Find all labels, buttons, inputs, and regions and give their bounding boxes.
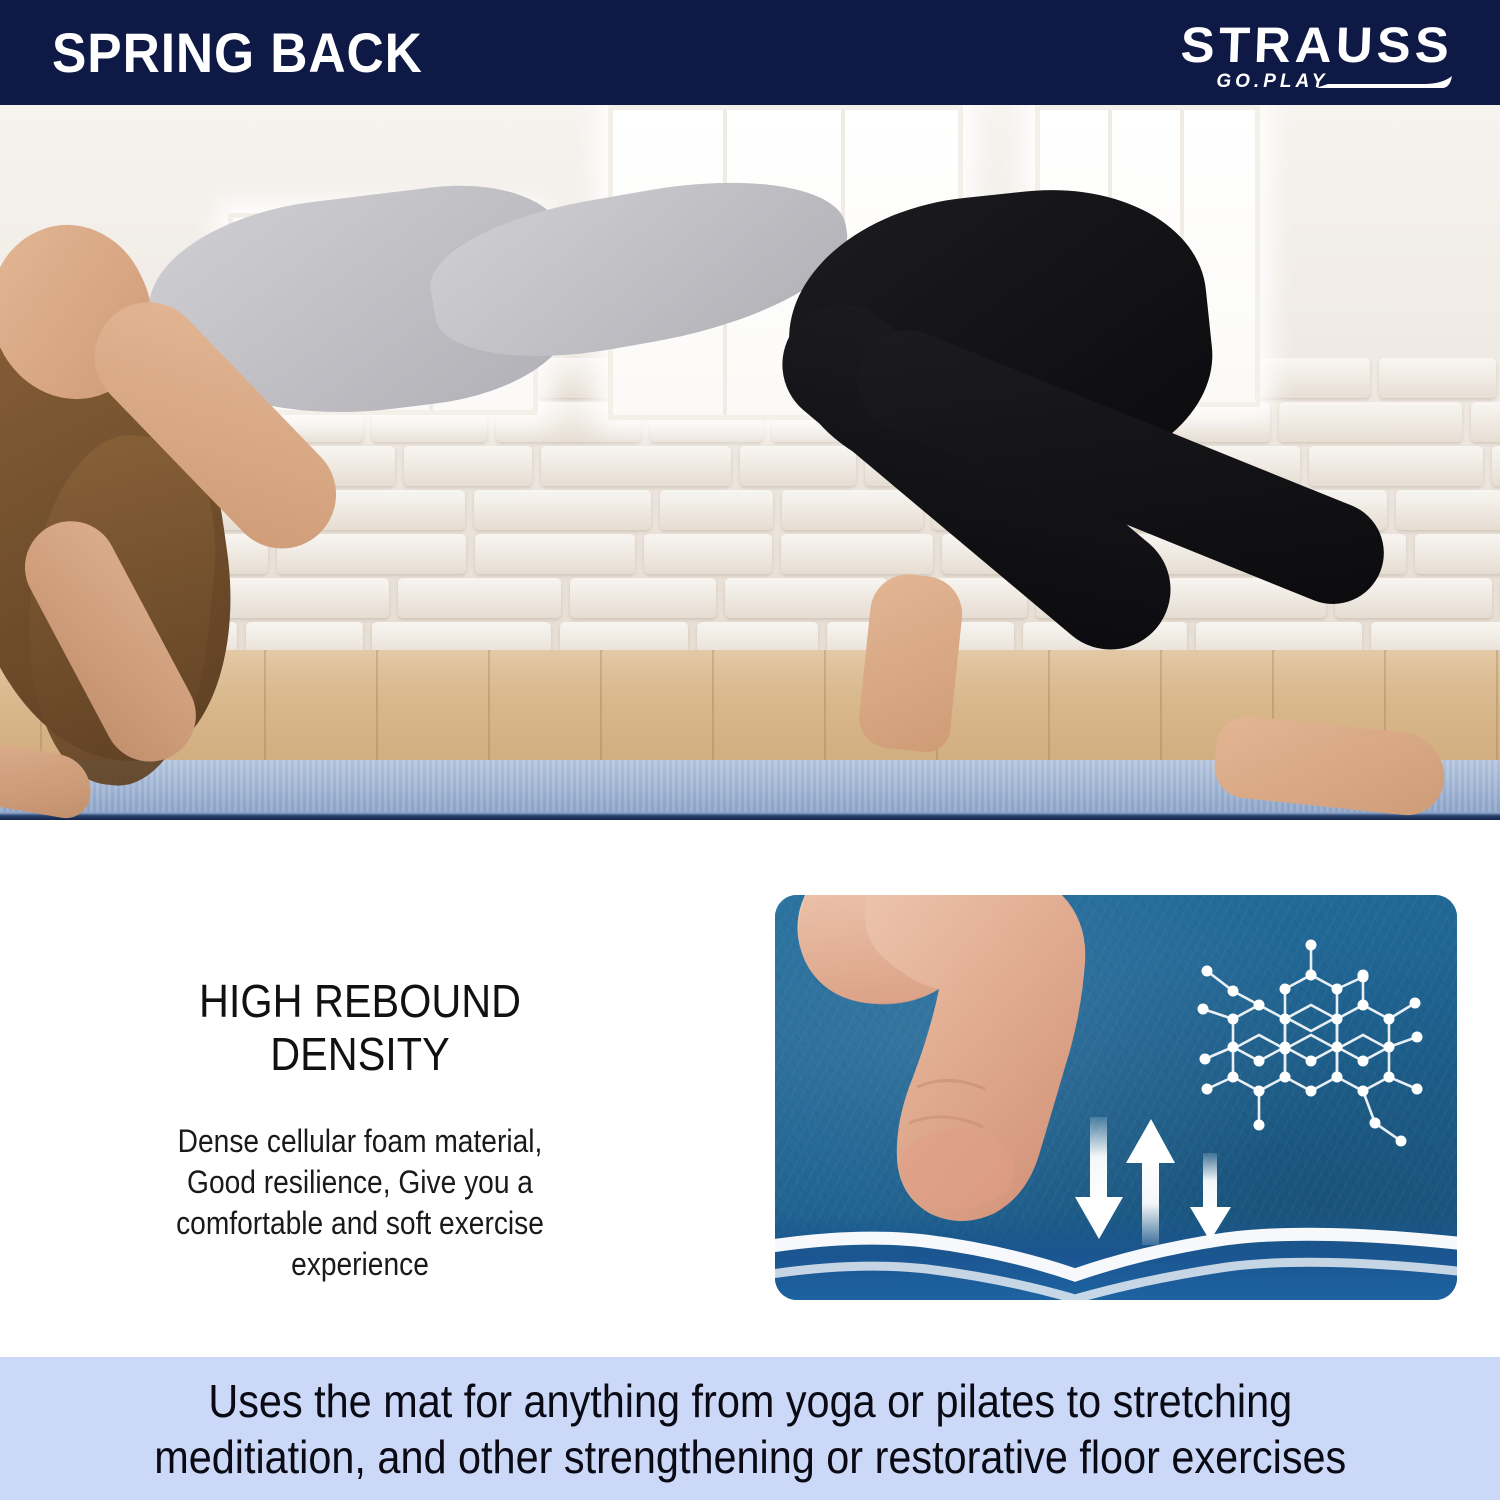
feature-body-line2: Good resilience, Give you a bbox=[187, 1164, 533, 1200]
floor-plank bbox=[712, 650, 714, 760]
figure-foot-back bbox=[856, 571, 966, 755]
floor-plank bbox=[1048, 650, 1050, 760]
brick bbox=[570, 578, 716, 618]
brick bbox=[781, 534, 933, 574]
floor-plank bbox=[376, 650, 378, 760]
page-title: SPRING BACK bbox=[52, 20, 423, 86]
brick bbox=[1379, 358, 1496, 398]
brick bbox=[644, 534, 772, 574]
brick bbox=[740, 446, 856, 486]
brick bbox=[404, 446, 532, 486]
brick bbox=[1279, 402, 1462, 442]
brick bbox=[1471, 402, 1500, 442]
feature-heading-line2: DENSITY bbox=[270, 1028, 449, 1080]
rebound-arrow-down-small bbox=[1190, 1153, 1231, 1241]
brick bbox=[1309, 446, 1483, 486]
rebound-demo-panel bbox=[775, 895, 1457, 1300]
brick bbox=[1415, 534, 1500, 574]
brick bbox=[398, 578, 561, 618]
rebound-arrow-down-large bbox=[1075, 1117, 1123, 1239]
brick bbox=[725, 578, 887, 618]
molecule-lattice-icon bbox=[1165, 937, 1435, 1165]
brick bbox=[1396, 490, 1500, 530]
brick bbox=[1492, 446, 1500, 486]
floor-plank bbox=[264, 650, 266, 760]
floor-plank bbox=[1496, 650, 1498, 760]
banner-line2: meditiation, and other strengthening or … bbox=[154, 1431, 1346, 1483]
bottom-banner: Uses the mat for anything from yoga or p… bbox=[0, 1357, 1500, 1500]
feature-heading-line1: HIGH REBOUND bbox=[199, 975, 521, 1027]
product-feature-page: SPRING BACK STRAUSS GO.PLAY. bbox=[0, 0, 1500, 1500]
floor-plank bbox=[600, 650, 602, 760]
feature-heading: HIGH REBOUND DENSITY bbox=[90, 975, 630, 1081]
hero-photo bbox=[0, 105, 1500, 820]
brand-logo: STRAUSS GO.PLAY. bbox=[1054, 18, 1454, 96]
feature-section: HIGH REBOUND DENSITY Dense cellular foam… bbox=[0, 820, 1500, 1357]
banner-text: Uses the mat for anything from yoga or p… bbox=[138, 1373, 1362, 1485]
floor-plank bbox=[824, 650, 826, 760]
feature-body-line4: experience bbox=[291, 1246, 429, 1282]
brick bbox=[782, 490, 923, 530]
brick bbox=[475, 534, 635, 574]
banner-line1: Uses the mat for anything from yoga or p… bbox=[208, 1375, 1292, 1427]
floor-plank bbox=[488, 650, 490, 760]
swoosh-icon bbox=[1314, 62, 1454, 94]
header-bar: SPRING BACK STRAUSS GO.PLAY. bbox=[0, 0, 1500, 105]
feature-body-line1: Dense cellular foam material, bbox=[178, 1123, 543, 1159]
brick bbox=[541, 446, 731, 486]
floor-plank bbox=[1160, 650, 1162, 760]
feature-body-line3: comfortable and soft exercise bbox=[176, 1205, 544, 1241]
brick bbox=[660, 490, 773, 530]
brick bbox=[474, 490, 651, 530]
feature-copy: HIGH REBOUND DENSITY Dense cellular foam… bbox=[60, 975, 660, 1285]
brick bbox=[214, 578, 389, 618]
feature-description: Dense cellular foam material, Good resil… bbox=[96, 1121, 624, 1285]
